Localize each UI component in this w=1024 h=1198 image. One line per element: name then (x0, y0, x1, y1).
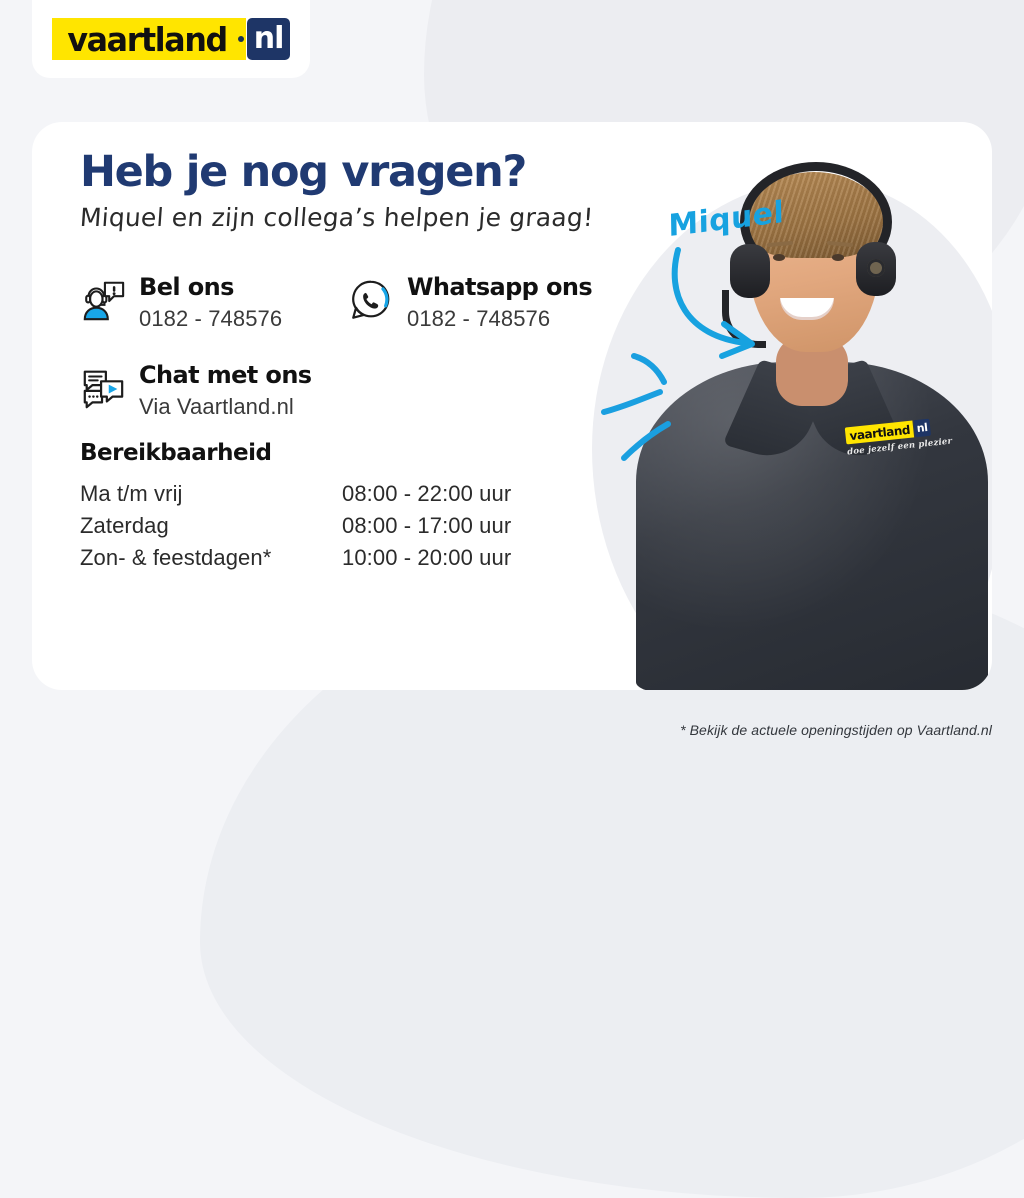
table-row: Zon- & feestdagen* 10:00 - 20:00 uur (80, 542, 511, 574)
whatsapp-icon (348, 277, 394, 323)
vaartland-nl-logo: vaartland nl (52, 18, 291, 60)
hours-day: Zaterdag (80, 510, 342, 542)
contact-method-call[interactable]: Bel ons 0182 - 748576 (80, 274, 282, 332)
contact-call-text: Bel ons 0182 - 748576 (139, 274, 282, 332)
contact-method-chat[interactable]: Chat met ons Via Vaartland.nl (80, 362, 312, 420)
logo-tld-plate: nl (247, 18, 291, 60)
contact-whatsapp-text: Whatsapp ons 0182 - 748576 (407, 274, 592, 332)
shirt-logo-tld: nl (916, 422, 928, 434)
logo-dot-icon (238, 18, 246, 60)
main-content-card: vaartland nl doe jezelf een plezier Miqu… (32, 122, 992, 690)
hours-time: 10:00 - 20:00 uur (342, 542, 511, 574)
page-title: Heb je nog vragen? (80, 150, 680, 195)
contact-whatsapp-value: 0182 - 748576 (407, 306, 592, 332)
contact-method-whatsapp[interactable]: Whatsapp ons 0182 - 748576 (348, 274, 592, 332)
page-subtitle-wrap: Miquel en zijn collega’s helpen je graag… (80, 203, 680, 232)
contact-chat-title: Chat met ons (139, 362, 312, 390)
blue-accent-strokes-icon (572, 322, 732, 482)
table-row: Zaterdag 08:00 - 17:00 uur (80, 510, 511, 542)
contact-call-value: 0182 - 748576 (139, 306, 282, 332)
contact-whatsapp-title: Whatsapp ons (407, 274, 592, 302)
contact-chat-text: Chat met ons Via Vaartland.nl (139, 362, 312, 420)
shirt-logo-tld-plate: nl (913, 419, 931, 438)
logo-wordmark: vaartland (67, 23, 227, 56)
footnote-text: * Bekijk de actuele openingstijden op Va… (680, 722, 992, 738)
hours-time: 08:00 - 22:00 uur (342, 478, 511, 510)
opening-hours-table: Ma t/m vrij 08:00 - 22:00 uur Zaterdag 0… (80, 478, 511, 574)
hours-day: Zon- & feestdagen* (80, 542, 342, 574)
brand-logo-badge[interactable]: vaartland nl (32, 0, 310, 78)
headset-earcup-right (856, 242, 896, 296)
hours-time: 08:00 - 17:00 uur (342, 510, 511, 542)
agent-headset-icon (80, 277, 126, 323)
contact-call-title: Bel ons (139, 274, 282, 302)
table-row: Ma t/m vrij 08:00 - 22:00 uur (80, 478, 511, 510)
contact-chat-value: Via Vaartland.nl (139, 394, 312, 420)
hours-day: Ma t/m vrij (80, 478, 342, 510)
page-subtitle: Miquel en zijn collega’s helpen je graag… (79, 203, 594, 232)
logo-wordmark-plate: vaartland (52, 18, 238, 60)
shirt-logo-wordmark: vaartland (849, 423, 910, 441)
logo-tld: nl (254, 24, 284, 54)
chat-bubbles-icon (80, 365, 126, 411)
